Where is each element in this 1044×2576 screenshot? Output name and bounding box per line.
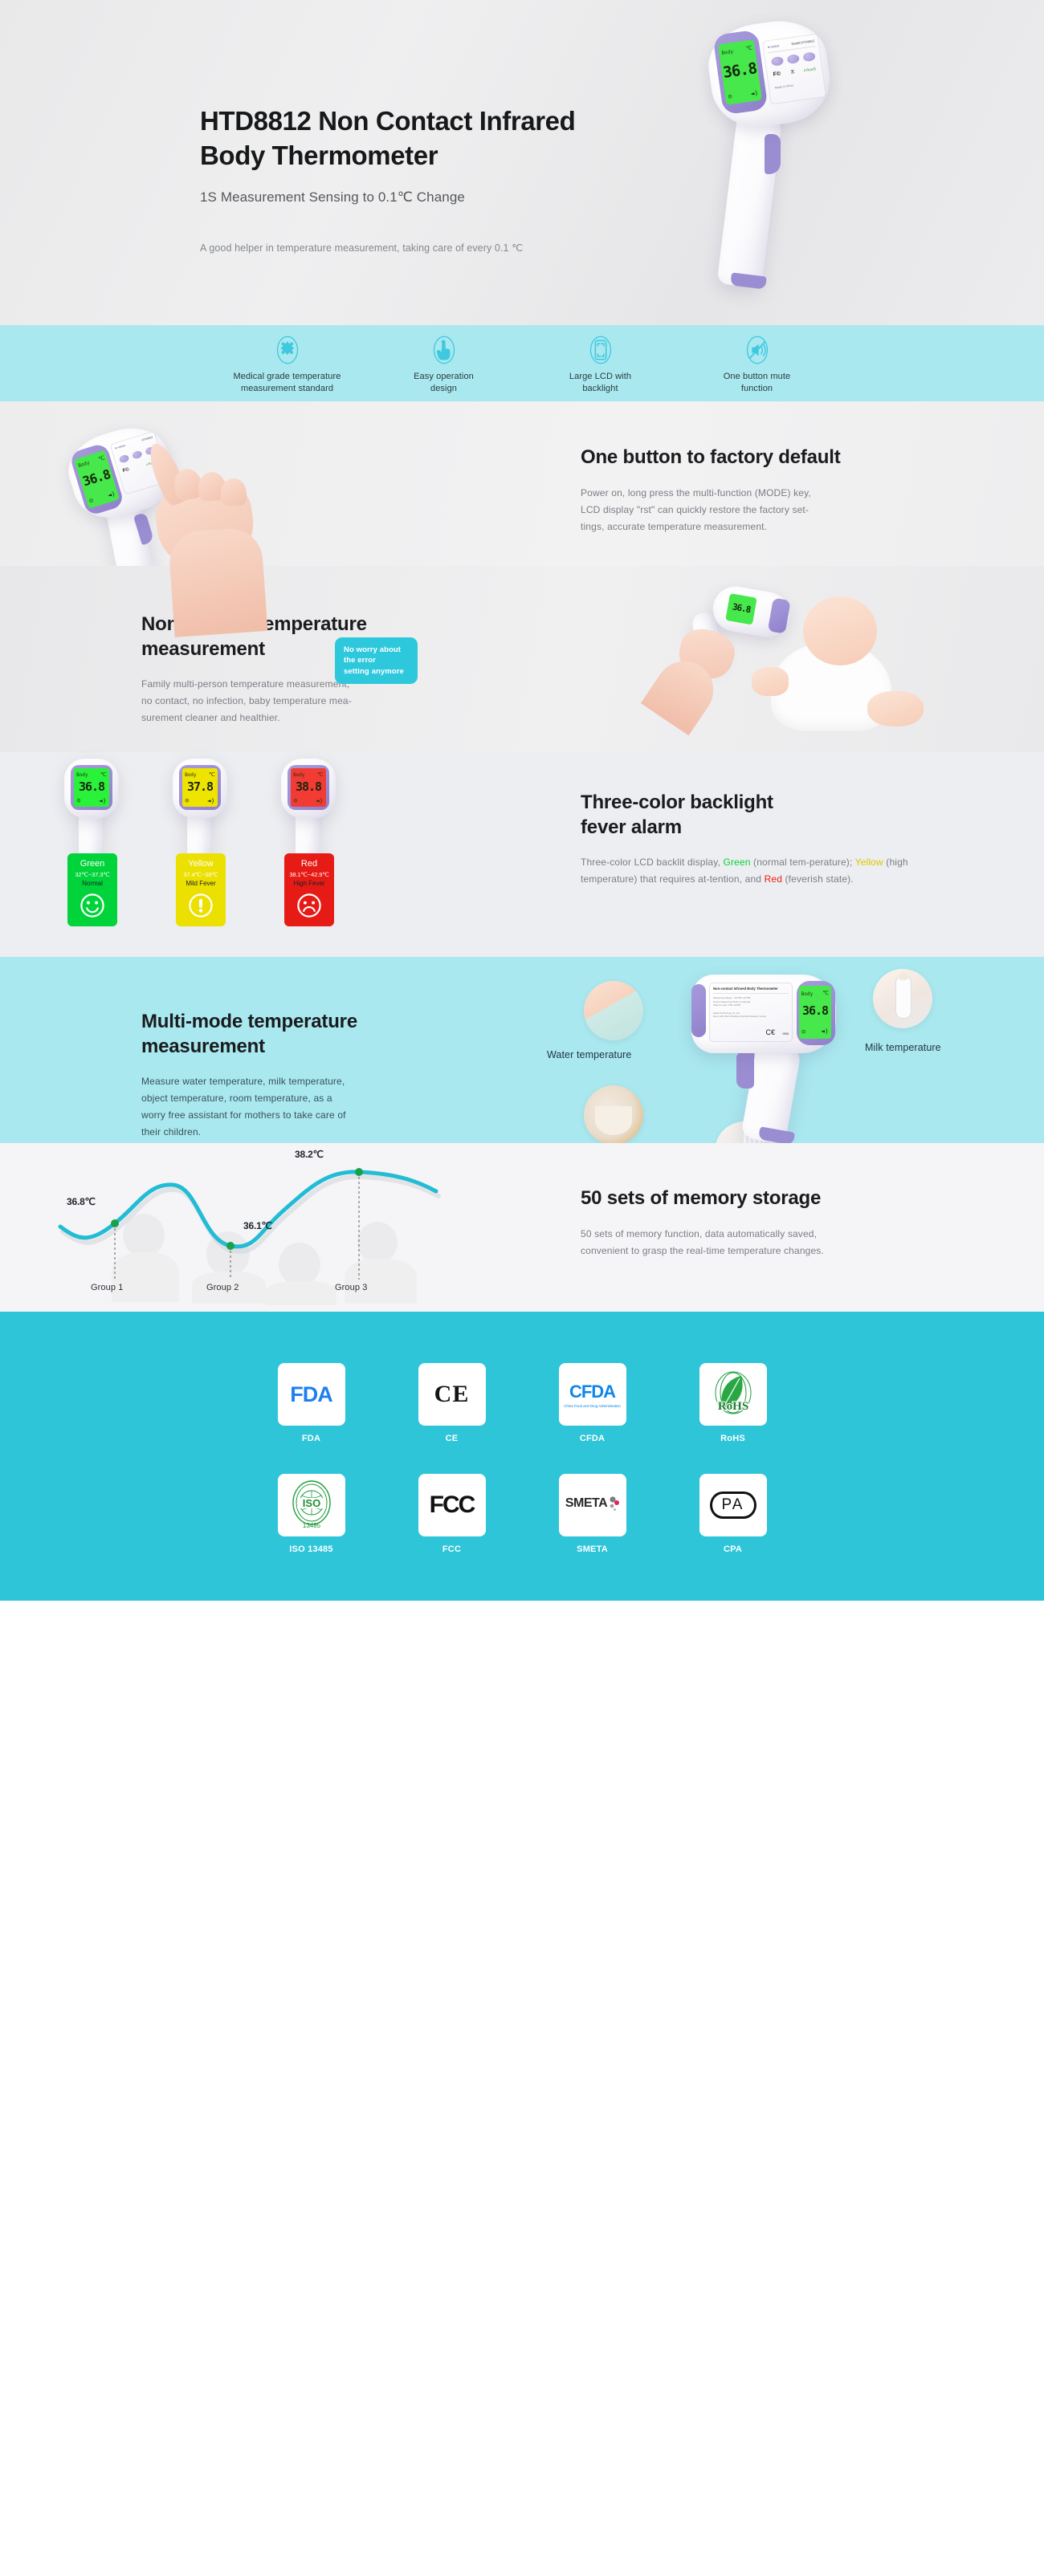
thermometer-label-panel: ♥ Heltek Model:HTD8812 F© ⧖ ✔RoHS Made i…: [762, 34, 826, 105]
feature-caption-line1: Easy operation: [365, 371, 522, 383]
lcd-mode-label: Body: [76, 772, 88, 778]
chart-point-3: [355, 1168, 363, 1176]
lcd-sound-icon: ◄): [207, 797, 215, 804]
hero-subtitle: 1S Measurement Sensing to 0.1℃ Change: [200, 189, 650, 206]
smeta-mark: SMETA: [565, 1496, 607, 1511]
alert-card-yellow: Body ℃ 37.8 ☹ ◄) Yellow 37.4℃~38℃ Mild F…: [157, 757, 245, 926]
alert-status: Mild Fever: [178, 880, 223, 887]
ce-mark: CE: [434, 1381, 470, 1408]
chart-line: [60, 1172, 436, 1247]
status-badge-red: Red 38.1℃~42.9℃ High Fever: [284, 853, 334, 926]
lcd-mode-label: Body: [78, 460, 91, 469]
certification-name: FDA: [263, 1434, 360, 1443]
body-red-word: Red: [765, 873, 782, 885]
multi-mode-copy: Multi-mode temperature measurement Measu…: [141, 1010, 479, 1141]
lcd-screen-icon: [522, 332, 679, 368]
hand-forearm: [168, 527, 268, 637]
hero-title-line2: Body Thermometer: [200, 139, 650, 173]
smeta-logo-icon: SMETA: [559, 1474, 626, 1536]
mode-image-water: [584, 981, 643, 1040]
thermometer-trigger: [736, 1052, 754, 1089]
certifications-section: FDA FDA CE CE CFDA China Food and Drug A…: [0, 1312, 1044, 1601]
thermometer-button-1[interactable]: [771, 56, 784, 67]
baby-photo-illustration: 36.8: [675, 579, 1012, 739]
alert-status: Normal: [70, 880, 115, 887]
alert-color-name: Red: [287, 859, 332, 869]
status-badge-yellow: Yellow 37.4℃~38℃ Mild Fever: [176, 853, 226, 926]
fcc-logo-icon: FCC: [418, 1474, 486, 1536]
chart-category-label-2: Group 2: [206, 1283, 239, 1292]
feature-caption-line1: Large LCD with: [522, 371, 679, 383]
ce-logo-icon: CE: [418, 1363, 486, 1426]
cfda-mark: CFDA: [564, 1382, 621, 1402]
memory-body-line2: convenient to grasp the real-time temper…: [581, 1245, 824, 1256]
body-green-word: Green: [723, 857, 750, 868]
lcd-reading: 37.8: [187, 779, 213, 794]
lcd-mode-label: Body: [721, 49, 733, 56]
alert-card-group: Body ℃ 36.8 ☺ ◄) Green 32℃~37.3℃ Normal: [48, 757, 353, 926]
certification-cpa: PA CPA: [685, 1474, 781, 1554]
thermometer-illustration-yellow: Body ℃ 37.8 ☹ ◄): [157, 757, 245, 853]
feature-caption-line1: One button mute: [679, 371, 835, 383]
bubble-line2: setting anymore: [344, 666, 409, 677]
page-title: HTD8812 Non Contact Infrared Body Thermo…: [200, 104, 650, 173]
thermometer-illustration-red: Body ℃ 38.8 ☹ ◄): [265, 757, 353, 853]
alert-color-name: Green: [70, 859, 115, 869]
certification-name: RoHS: [685, 1434, 781, 1443]
medical-cross-icon: [209, 332, 365, 368]
lcd-reading: 36.8: [802, 1003, 828, 1018]
chart-svg: [44, 1153, 526, 1301]
multi-mode-section: Multi-mode temperature measurement Measu…: [0, 957, 1044, 1143]
thermometer-lcd: Body ℃ 37.8 ☹ ◄): [182, 768, 218, 807]
certification-name: SMETA: [544, 1544, 641, 1554]
chart-point-2: [226, 1242, 234, 1250]
lcd-mode-label: Body: [185, 772, 196, 778]
lcd-warning-icon: ☹: [186, 797, 190, 804]
cpa-logo-icon: PA: [699, 1474, 767, 1536]
hero-section: HTD8812 Non Contact Infrared Body Thermo…: [0, 0, 1044, 325]
chart-category-label-1: Group 1: [91, 1283, 123, 1292]
certification-fda: FDA FDA: [263, 1363, 360, 1443]
certification-rohs: RoHS RoHS: [685, 1363, 781, 1443]
alert-card-green: Body ℃ 36.8 ☺ ◄) Green 32℃~37.3℃ Normal: [48, 757, 137, 926]
lcd-smiley-icon: ☺: [728, 93, 732, 101]
certification-smeta: SMETA SMETA: [544, 1474, 641, 1554]
hero-title-line1: HTD8812 Non Contact Infrared: [200, 104, 650, 139]
chart-point-1: [111, 1219, 119, 1227]
multi-mode-body-line1: Measure water temperature, milk temperat…: [141, 1076, 345, 1087]
feature-caption-line2: measurement standard: [209, 383, 365, 395]
hero-copy: HTD8812 Non Contact Infrared Body Thermo…: [200, 104, 650, 254]
lcd-mode-label: Body: [293, 772, 304, 778]
alert-card-red: Body ℃ 38.8 ☹ ◄) Red 38.1℃~42.9℃ High Fe…: [265, 757, 353, 926]
factory-body-line3: tings, accurate temperature measurement.: [581, 521, 767, 532]
noncontact-body-line3: surement cleaner and healthier.: [141, 712, 280, 723]
warning-face-icon: [187, 892, 214, 919]
fda-mark: FDA: [290, 1382, 332, 1407]
multi-mode-heading-line2: measurement: [141, 1036, 265, 1057]
lcd-sound-icon: ◄): [750, 89, 759, 97]
memory-body-line1: 50 sets of memory function, data automat…: [581, 1228, 817, 1239]
mute-speaker-icon: [679, 332, 835, 368]
callout-bubble: No worry about the error setting anymore: [335, 637, 418, 684]
factory-copy: One button to factory default Power on, …: [581, 446, 950, 535]
three-color-backlight-section: Body ℃ 36.8 ☺ ◄) Green 32℃~37.3℃ Normal: [0, 752, 1044, 957]
thermometer-lcd: Body ℃ 38.8 ☹ ◄): [291, 768, 326, 807]
feature-item-easy-operation: Easy operation design: [365, 332, 522, 394]
alert-status: High Fever: [287, 880, 332, 887]
factory-body-line1: Power on, long press the multi-function …: [581, 487, 811, 499]
feature-item-large-lcd: Large LCD with backlight: [522, 332, 679, 394]
body-yellow-word: Yellow: [855, 857, 883, 868]
lcd-unit-label: ℃: [100, 771, 107, 778]
sad-face-icon: [296, 892, 323, 919]
temperature-trend-chart: 36.8℃ 36.1℃ 38.2℃ Group 1 Group 2 Group …: [44, 1153, 526, 1301]
memory-storage-section: 36.8℃ 36.1℃ 38.2℃ Group 1 Group 2 Group …: [0, 1143, 1044, 1312]
hero-note: A good helper in temperature measurement…: [200, 242, 650, 254]
lcd-smiley-icon: ☺: [77, 797, 81, 804]
feature-caption-line2: function: [679, 383, 835, 395]
alert-range: 38.1℃~42.9℃: [287, 871, 332, 878]
lcd-sound-icon: ◄): [316, 797, 324, 804]
certification-ce: CE CE: [404, 1363, 500, 1443]
body-mid1: (normal tem-perature);: [751, 857, 855, 868]
lcd-unit-label: ℃: [745, 45, 752, 52]
three-color-heading: Three-color backlight fever alarm: [581, 791, 958, 840]
chart-value-label-3: 38.2℃: [295, 1149, 324, 1160]
factory-default-section: No worry about the error setting anymore…: [0, 401, 1044, 566]
lcd-sad-icon: ☹: [294, 797, 298, 804]
factory-heading: One button to factory default: [581, 446, 950, 470]
thermometer-button-2[interactable]: [787, 54, 800, 64]
factory-body-line2: LCD display "rst" can quickly restore th…: [581, 504, 809, 515]
cfda-logo-icon: CFDA China Food and Drug Administration: [559, 1363, 626, 1426]
mode-label-water: Water temperature: [547, 1049, 631, 1060]
rohs-logo-icon: RoHS: [699, 1363, 767, 1426]
certification-iso: ISO 13485 ISO 13485: [263, 1474, 360, 1554]
hand-holding-thermometer: [675, 611, 763, 707]
lcd-smiley-icon: ☺: [88, 497, 94, 505]
multi-mode-body-line2: object temperature, room temperature, as…: [141, 1093, 332, 1104]
status-badge-green: Green 32℃~37.3℃ Normal: [67, 853, 117, 926]
thermometer-lcd: Body ℃ 36.8 ☺ ◄): [74, 768, 109, 807]
three-color-copy: Three-color backlight fever alarm Three-…: [581, 791, 958, 888]
feature-item-medical-grade: Medical grade temperature measurement st…: [209, 332, 365, 394]
lcd-sound-icon: ◄): [107, 490, 116, 499]
smile-face-icon: [79, 892, 106, 919]
svg-text:ISO: ISO: [302, 1497, 320, 1509]
chart-value-label-2: 36.1℃: [243, 1220, 272, 1231]
lcd-smiley-icon: ☺: [801, 1028, 805, 1036]
multi-mode-heading-line1: Multi-mode temperature: [141, 1011, 357, 1032]
certification-name: FCC: [404, 1544, 500, 1554]
baby-leg: [867, 691, 924, 726]
body-suffix: (feverish state).: [782, 873, 854, 885]
body-prefix: Three-color LCD backlit display,: [581, 857, 723, 868]
feature-item-mute: One button mute function: [679, 332, 835, 394]
thermometer-illustration-green: Body ℃ 36.8 ☺ ◄): [48, 757, 137, 853]
lcd-mode-label: Body: [801, 991, 813, 997]
chart-value-label-1: 36.8℃: [67, 1196, 96, 1207]
feature-caption-line2: backlight: [522, 383, 679, 395]
certification-fcc: FCC FCC: [404, 1474, 500, 1554]
noncontact-body-line2: no contact, no infection, baby temperatu…: [141, 695, 352, 706]
chart-category-label-3: Group 3: [335, 1283, 367, 1292]
feature-caption-line2: design: [365, 383, 522, 395]
memory-heading: 50 sets of memory storage: [581, 1186, 966, 1211]
thermometer-lcd: Body ℃ 36.8 ☺ ◄): [799, 986, 831, 1039]
thermometer-illustration-multimode: Body ℃ 36.8 ☺ ◄) Non-contact Infrared Bo…: [679, 963, 903, 1148]
lcd-sound-icon: ◄): [821, 1028, 829, 1035]
certification-name: CE: [404, 1434, 500, 1443]
memory-copy: 50 sets of memory storage 50 sets of mem…: [581, 1186, 966, 1260]
baby-head: [803, 596, 877, 665]
lcd-unit-label: ℃: [822, 990, 829, 996]
hand-tap-icon: [365, 332, 522, 368]
certification-grid: FDA FDA CE CE CFDA China Food and Drug A…: [241, 1363, 803, 1554]
lcd-reading: 36.8: [722, 59, 757, 82]
thermometer-button-3[interactable]: [802, 51, 815, 62]
multi-mode-body-line4: their children.: [141, 1126, 201, 1137]
noncontact-body-line1: Family multi-person temperature measurem…: [141, 678, 349, 690]
alert-color-name: Yellow: [178, 859, 223, 869]
bubble-line1: No worry about the error: [344, 645, 409, 666]
lcd-unit-label: ℃: [209, 771, 215, 778]
lcd-reading: 36.8: [81, 466, 112, 489]
thermometer-back-label: Non-contact Infrared Body Thermometer Me…: [709, 983, 793, 1042]
lcd-unit-label: ℃: [317, 771, 324, 778]
lcd-reading: 36.8: [79, 779, 104, 794]
alert-range: 32℃~37.3℃: [70, 871, 115, 878]
lcd-unit-label: ℃: [98, 454, 106, 462]
certification-name: CFDA: [544, 1434, 641, 1443]
cpa-mark: PA: [710, 1491, 756, 1519]
lcd-reading: 38.8: [296, 779, 321, 794]
certification-name: CPA: [685, 1544, 781, 1554]
thermometer-bezel: [691, 984, 706, 1037]
fda-logo-icon: FDA: [278, 1363, 345, 1426]
product-detail-page: HTD8812 Non Contact Infrared Body Thermo…: [0, 0, 1044, 1601]
multi-mode-heading: Multi-mode temperature measurement: [141, 1010, 479, 1059]
three-color-body: Three-color LCD backlit display, Green (…: [581, 854, 958, 888]
multi-mode-body-line3: worry free assistant for mothers to take…: [141, 1109, 346, 1121]
iso-logo-icon: ISO 13485: [278, 1474, 345, 1536]
alert-range: 37.4℃~38℃: [178, 871, 223, 878]
thermometer-illustration: Body ℃ 36.8 ☺ ◄) ♥ Heltek Model:HTD8812 …: [691, 10, 851, 299]
feature-caption-line1: Medical grade temperature: [209, 371, 365, 383]
lcd-sound-icon: ◄): [99, 797, 107, 804]
cfda-subtitle: China Food and Drug Administration: [564, 1404, 621, 1408]
certification-name: ISO 13485: [263, 1544, 360, 1554]
three-color-heading-line2: fever alarm: [581, 816, 682, 838]
hand-knuckle-3: [221, 478, 247, 506]
thermometer-grip: [716, 104, 783, 288]
svg-text:RoHS: RoHS: [717, 1400, 748, 1413]
mode-image-object: [584, 1085, 643, 1145]
iso-number: 13485: [302, 1522, 320, 1529]
fcc-mark: FCC: [430, 1491, 475, 1519]
feature-highlights-bar: Medical grade temperature measurement st…: [0, 325, 1044, 401]
three-color-heading-line1: Three-color backlight: [581, 792, 773, 813]
noncontact-heading-line2: measurement: [141, 638, 265, 660]
thermometer-trigger: [765, 134, 781, 174]
certification-cfda: CFDA China Food and Drug Administration …: [544, 1363, 641, 1443]
hand-illustration: [124, 433, 365, 634]
